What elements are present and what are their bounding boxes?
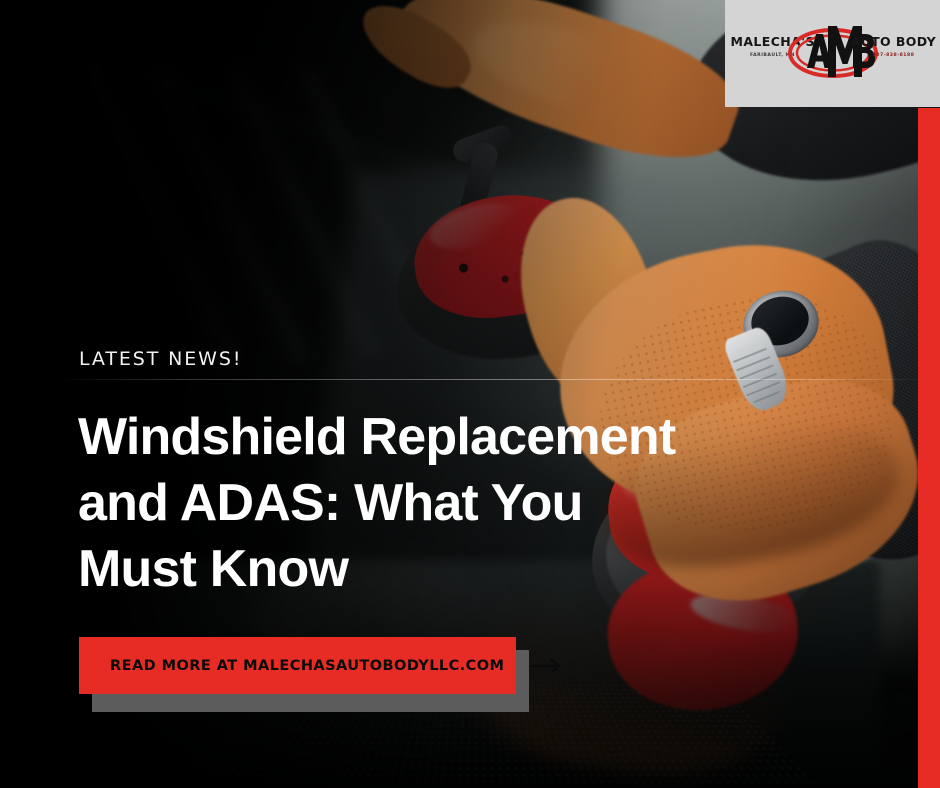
kicker-label: LATEST NEWS! (79, 350, 242, 369)
logo-word-right: AUTO BODY (851, 36, 937, 49)
headline-line-2: and ADAS: What You (78, 470, 718, 536)
logo-right-text: AUTO BODY 507-838-8188 (851, 36, 937, 59)
logo-phone-number: 507-838-8188 (851, 53, 937, 58)
social-post-graphic: MALECHA'S FARIBAULT, MN AUTO BODY 507-83… (0, 0, 940, 788)
kicker-divider (60, 379, 926, 380)
headline-line-1: Windshield Replacement (78, 404, 718, 470)
logo-panel[interactable]: MALECHA'S FARIBAULT, MN AUTO BODY 507-83… (725, 0, 940, 107)
page-title: Windshield Replacement and ADAS: What Yo… (78, 404, 718, 602)
logo-lockup: MALECHA'S FARIBAULT, MN AUTO BODY 507-83… (729, 22, 937, 86)
headline-line-3: Must Know (78, 536, 718, 602)
accent-stripe-right (918, 108, 940, 788)
arrow-right-icon (530, 658, 564, 674)
read-more-button[interactable]: READ MORE AT MALECHASAUTOBODYLLC.COM (79, 637, 516, 694)
read-more-label: READ MORE AT MALECHASAUTOBODYLLC.COM (110, 658, 504, 674)
